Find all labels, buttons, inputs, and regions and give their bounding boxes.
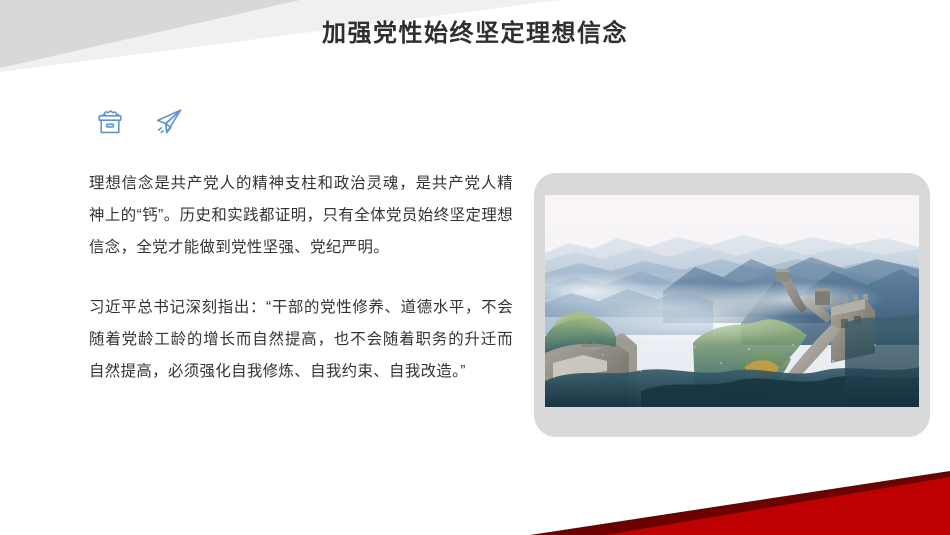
illustration-card: [534, 173, 930, 437]
page-title: 加强党性始终坚定理想信念: [0, 20, 950, 49]
slide-canvas: 加强党性始终坚定理想信念: [0, 0, 950, 535]
bottom-right-red-wedge: [605, 477, 950, 535]
decorative-icon-row: [92, 104, 186, 140]
great-wall-illustration-svg: [545, 195, 919, 407]
paper-plane-icon: [150, 104, 186, 140]
body-paragraph-1: 理想信念是共产党人的精神支柱和政治灵魂，是共产党人精神上的“钙”。历史和实践都证…: [89, 168, 513, 264]
body-paragraph-2: 习近平总书记深刻指出：“干部的党性修养、道德水平，不会随着党龄工龄的增长而自然提…: [89, 292, 513, 388]
great-wall-watercolor-image: [545, 195, 919, 407]
archive-box-icon: [92, 104, 128, 140]
body-text-column: 理想信念是共产党人的精神支柱和政治灵魂，是共产党人精神上的“钙”。历史和实践都证…: [89, 168, 513, 388]
bottom-right-dark-wedge: [530, 471, 950, 535]
